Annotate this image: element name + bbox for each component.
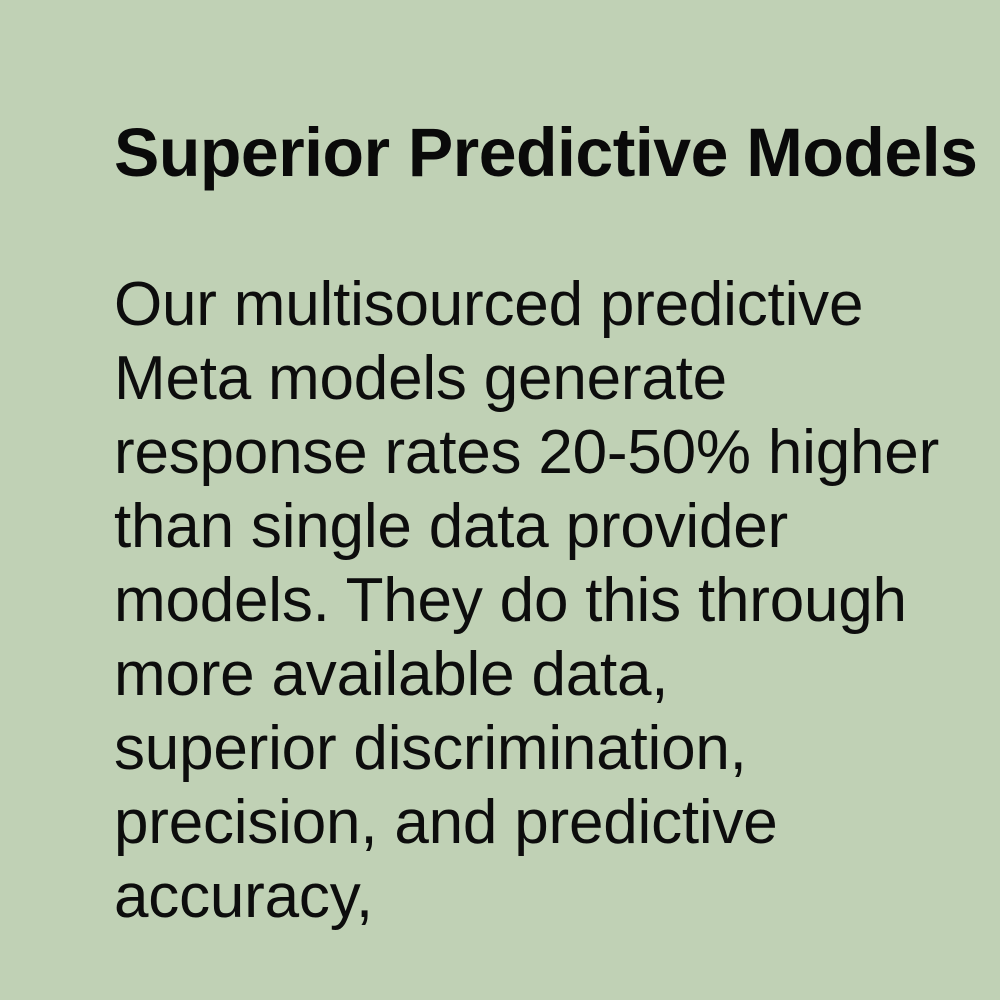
body-line: superior discrimination, bbox=[114, 712, 904, 786]
body-paragraph: Our multisourced predictive Meta models … bbox=[114, 268, 904, 934]
card-content: Superior Predictive Models Our multisour… bbox=[114, 0, 914, 1000]
body-line: than single data provider bbox=[114, 490, 904, 564]
body-line: more available data, bbox=[114, 638, 904, 712]
page-title: Superior Predictive Models bbox=[114, 118, 922, 187]
body-line: Our multisourced predictive bbox=[114, 268, 904, 342]
body-line: models. They do this through bbox=[114, 564, 904, 638]
body-line: accuracy, bbox=[114, 860, 904, 934]
body-line: response rates 20-50% higher bbox=[114, 416, 904, 490]
content-card: Superior Predictive Models Our multisour… bbox=[0, 0, 1000, 1000]
body-line: precision, and predictive bbox=[114, 786, 904, 860]
body-line: Meta models generate bbox=[114, 342, 904, 416]
